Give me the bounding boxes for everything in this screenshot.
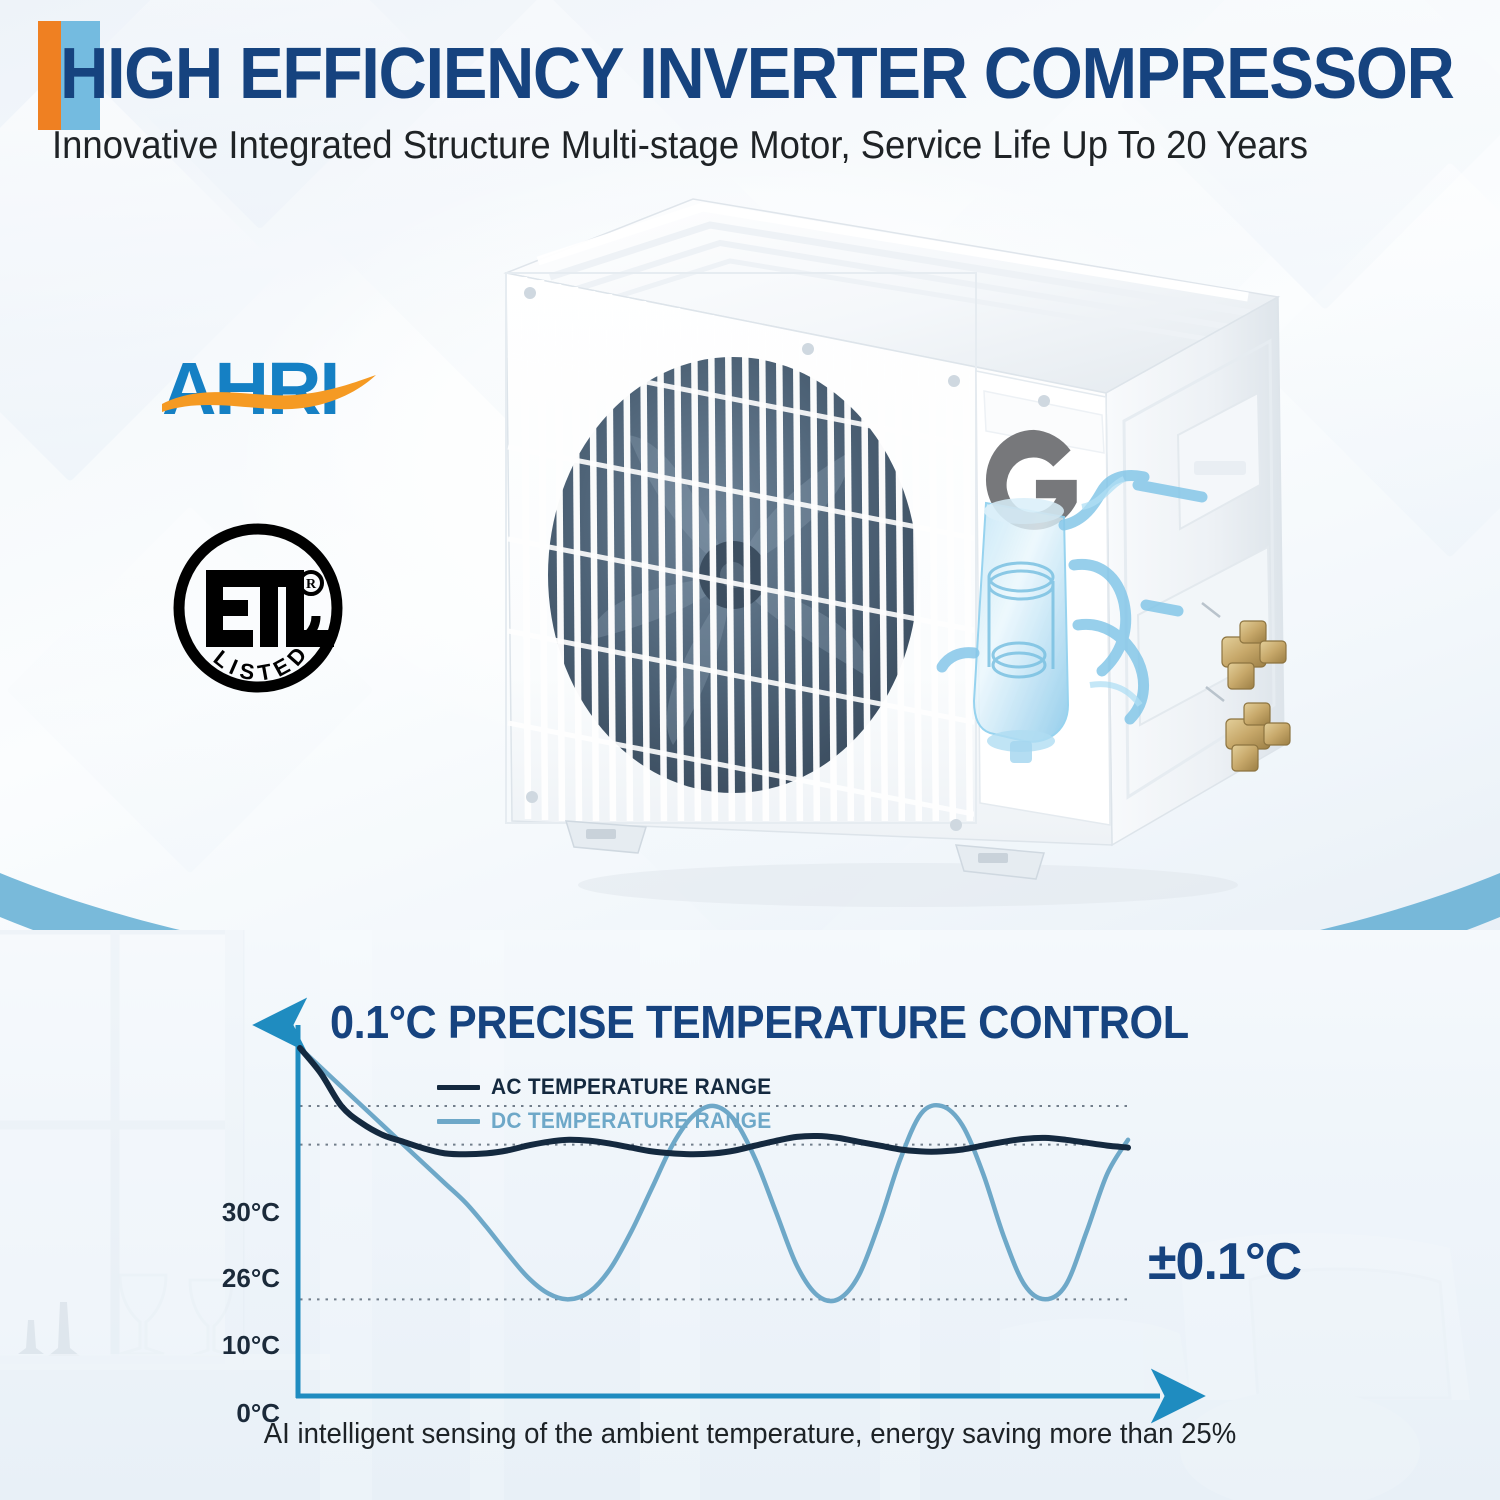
svg-text:R: R (306, 577, 317, 592)
svg-text:AHRI: AHRI (162, 352, 338, 428)
y-tick-label-26: 26°C (150, 1263, 280, 1294)
ahri-logo: AHRI (160, 352, 380, 428)
page-subtitle: Innovative Integrated Structure Multi-st… (52, 122, 1380, 170)
chart-caption: AI intelligent sensing of the ambient te… (38, 1418, 1463, 1451)
ac-temperature-curve (300, 1048, 1128, 1154)
accent-orange-stripe (38, 21, 61, 130)
dc-temperature-curve (300, 1048, 1128, 1301)
y-tick-label-10: 10°C (150, 1330, 280, 1361)
outdoor-condenser-unit (478, 185, 1308, 915)
product-infographic: HIGH EFFICIENCY INVERTER COMPRESSOR Inno… (0, 0, 1500, 1500)
etl-listed-logo: R LISTED (168, 520, 348, 700)
precision-annotation: ±0.1°C (1148, 1232, 1301, 1292)
y-tick-label-30: 30°C (150, 1197, 280, 1228)
page-title: HIGH EFFICIENCY INVERTER COMPRESSOR (60, 22, 1381, 126)
